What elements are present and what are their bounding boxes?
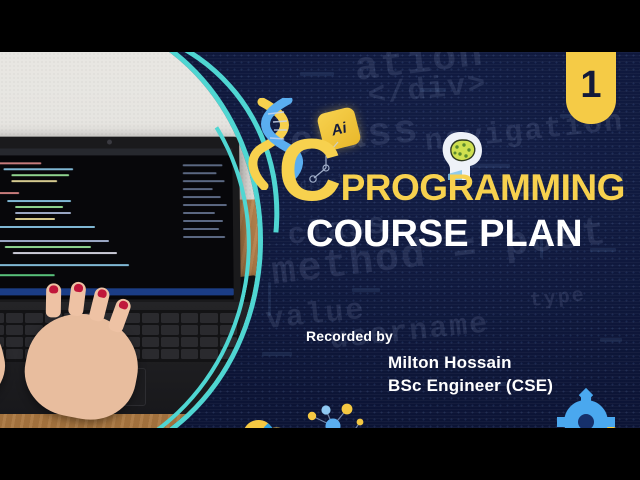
episode-number: 1	[580, 66, 601, 104]
title-letter-c: C	[278, 130, 340, 211]
title-block: C PROGRAMMING COURSE PLAN	[278, 130, 630, 256]
instructor-role: BSc Engineer (CSE)	[388, 376, 553, 396]
gear-blob-icon: ✦	[548, 386, 632, 428]
instructor-name: Milton Hossain	[388, 353, 553, 373]
title-word-programming: PROGRAMMING	[341, 171, 625, 205]
molecule-network-icon	[300, 400, 372, 428]
title-subtitle: COURSE PLAN	[306, 213, 630, 256]
credits-block: Recorded by Milton Hossain BSc Engineer …	[306, 328, 553, 396]
title-primary-row: C PROGRAMMING	[278, 130, 630, 211]
thumbnail-content-band: ation </div> class navigation class meth…	[0, 52, 640, 428]
episode-number-badge: 1	[566, 52, 616, 124]
video-thumbnail: ation </div> class navigation class meth…	[0, 0, 640, 480]
recorded-by-label: Recorded by	[306, 328, 553, 344]
cloud-gear-icon	[218, 404, 304, 428]
